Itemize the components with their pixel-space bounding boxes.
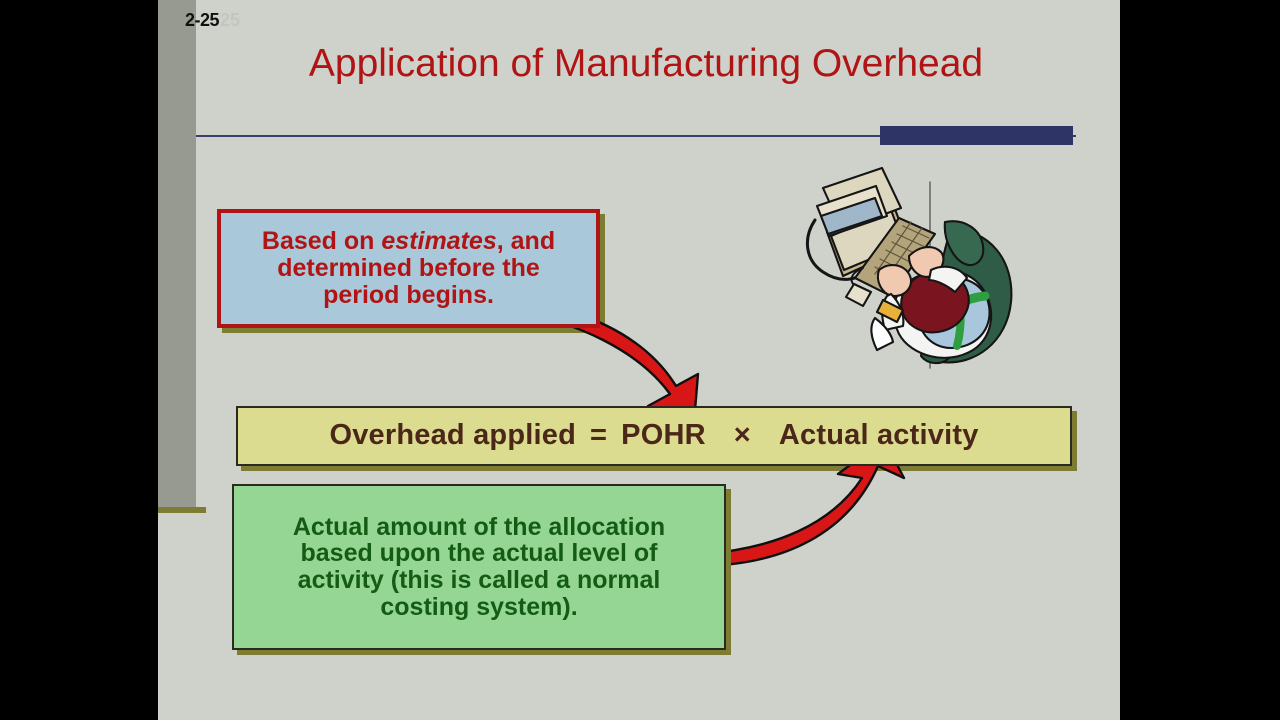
person-at-computer-icon (783, 160, 1043, 390)
letterbox-right (1120, 0, 1280, 720)
title-navy-tab (880, 126, 1073, 145)
callout-actual-line3: activity (this is called a normal (298, 566, 661, 594)
slide-left-accent-foot (158, 507, 206, 513)
callout-actual-line2: based upon the actual level of (300, 539, 657, 567)
presentation-slide: 25 2-25 Application of Manufacturing Ove… (158, 0, 1120, 720)
slide-number-ghost: 25 (220, 10, 240, 31)
slide-left-accent-band (158, 0, 196, 512)
callout-estimates-line1-post: , and (497, 227, 555, 255)
formula-equals: = (590, 419, 607, 451)
page-title: Application of Manufacturing Overhead (206, 42, 1086, 86)
slide-number: 2-25 (185, 10, 219, 31)
formula-lhs: Overhead applied (329, 419, 576, 451)
callout-actual-line1: Actual amount of the allocation (293, 513, 665, 541)
screenshot-stage: 25 2-25 Application of Manufacturing Ove… (0, 0, 1280, 720)
callout-estimates-emphasis: estimates (381, 227, 496, 255)
formula-box-face: Overhead applied=POHR×Actual activity (236, 406, 1072, 466)
callout-actual-line4: costing system). (380, 593, 577, 621)
callout-estimates-face: Based on estimates, and determined befor… (217, 209, 600, 328)
callout-actual-activity: Actual amount of the allocation based up… (232, 484, 726, 650)
letterbox-left (0, 0, 158, 720)
callout-estimates-line1-pre: Based on (262, 227, 381, 255)
callout-estimates-line3: period begins. (323, 281, 494, 309)
callout-actual-face: Actual amount of the allocation based up… (232, 484, 726, 650)
formula-times: × (734, 419, 751, 451)
callout-estimates: Based on estimates, and determined befor… (217, 209, 600, 328)
formula-driver: Actual activity (779, 419, 979, 451)
callout-estimates-line2: determined before the (277, 254, 540, 282)
formula-rate: POHR (621, 419, 706, 451)
formula-box: Overhead applied=POHR×Actual activity (236, 406, 1072, 466)
